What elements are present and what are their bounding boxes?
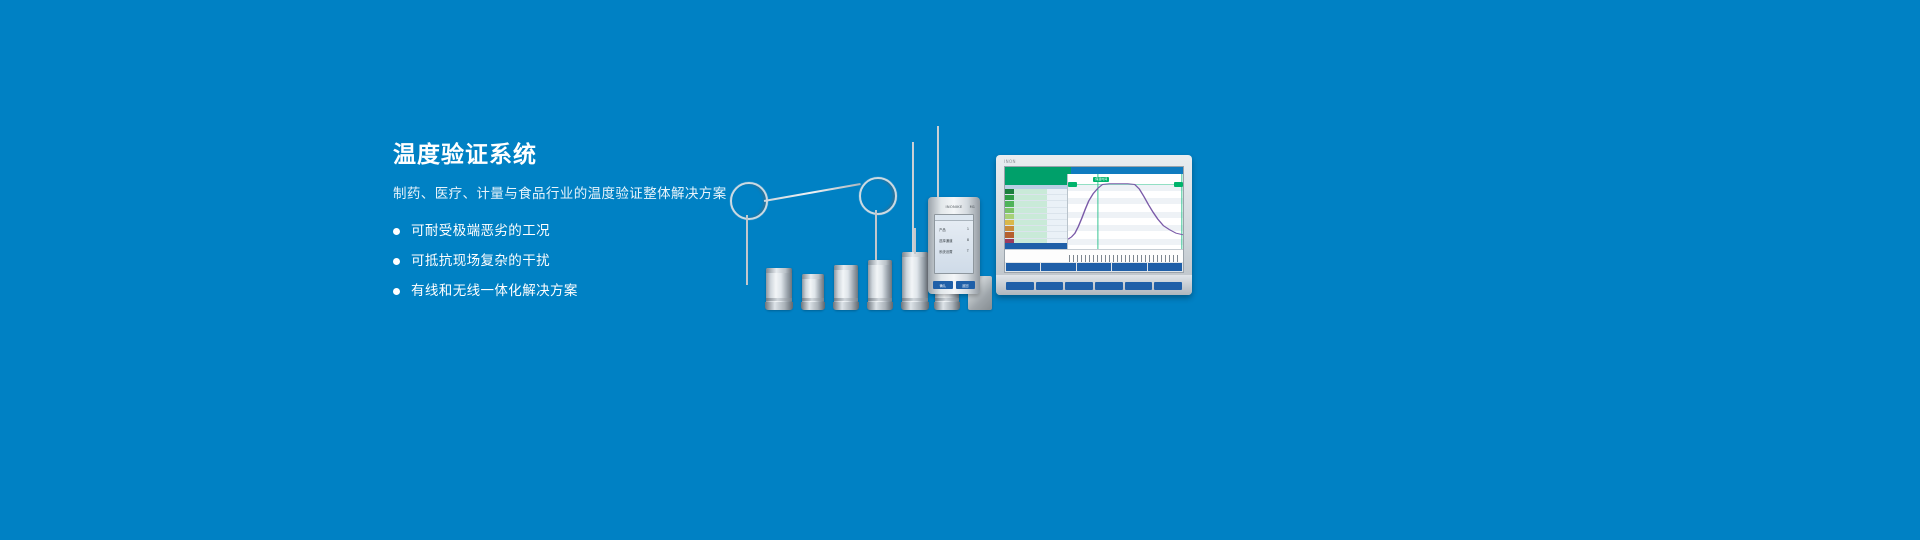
coil-sensor-icon [859, 177, 897, 215]
legend-swatch [1005, 201, 1014, 206]
handheld-row-label: 系统设置 [939, 249, 953, 254]
monitor-base [996, 275, 1192, 295]
function-key-f6[interactable] [1154, 282, 1182, 290]
temperature-chart: 保温时间 [1068, 174, 1183, 249]
hero-banner: 温度验证系统 制药、医疗、计量与食品行业的温度验证整体解决方案 可耐受极端恶劣的… [0, 0, 1920, 540]
monitor-screen: 保温时间 [1004, 166, 1184, 273]
handheld-screen-row: 选择通道 8 [935, 238, 973, 243]
logger-cap-icon [834, 265, 858, 270]
handheld-row-value: 8 [967, 238, 969, 243]
feature-label: 可耐受极端恶劣的工况 [411, 222, 550, 241]
data-logger-unit [902, 252, 928, 310]
function-key-f1[interactable] [1006, 282, 1034, 290]
monitor-tab-bar [1005, 167, 1183, 174]
logger-band-icon [834, 298, 858, 301]
data-logger-unit [834, 265, 858, 310]
monitor-function-keys [1006, 282, 1182, 290]
marker-right-handle[interactable] [1174, 182, 1183, 187]
logger-base-icon [934, 302, 960, 310]
coil-stem-icon [746, 215, 748, 285]
logger-band-icon [868, 298, 892, 301]
handheld-button-bar: 确认 返回 [933, 281, 975, 289]
legend-swatch [1005, 208, 1014, 213]
chart-x-axis [1005, 249, 1183, 262]
logger-cap-icon [868, 260, 892, 265]
legend-swatch [1005, 232, 1014, 237]
logger-band-icon [766, 298, 792, 301]
chart-svg [1068, 174, 1183, 249]
handheld-row-label: 选择通道 [939, 238, 953, 243]
handheld-back-button[interactable]: 返回 [956, 281, 976, 289]
channel-table-rows [1005, 189, 1067, 243]
logger-base-icon [765, 302, 793, 310]
handheld-screen: 产品 1 选择通道 8 系统设置 T [934, 214, 974, 274]
function-key-f5[interactable] [1125, 282, 1153, 290]
tab-settings[interactable] [1071, 167, 1127, 174]
handheld-model-label: M1 [970, 205, 975, 209]
handheld-reader[interactable]: INONIKE M1 产品 1 选择通道 8 系统设置 T 确认 返回 [928, 197, 980, 294]
marker-left-handle[interactable] [1068, 182, 1077, 187]
stop-acquisition-button[interactable] [1041, 263, 1075, 271]
tab-acquiring[interactable] [1005, 167, 1071, 174]
data-logger-unit [802, 274, 824, 310]
settings-button[interactable] [1112, 263, 1146, 271]
handheld-confirm-button[interactable]: 确认 [933, 281, 953, 289]
monitor-action-bar [1005, 262, 1183, 272]
bullet-dot-icon [393, 288, 400, 295]
logger-base-icon [867, 302, 893, 310]
channel-table [1005, 174, 1068, 249]
legend-swatch [1005, 214, 1014, 219]
logger-stem-icon [914, 228, 916, 254]
logger-base-icon [801, 302, 825, 310]
feature-label: 有线和无线一体化解决方案 [411, 282, 578, 301]
function-key-f4[interactable] [1095, 282, 1123, 290]
handheld-screen-header [935, 215, 973, 221]
monitor-brand-label: INON [1004, 159, 1016, 164]
data-logger-unit [868, 260, 892, 310]
start-acquisition-button[interactable] [1006, 263, 1040, 271]
function-key-f3[interactable] [1065, 282, 1093, 290]
monitor-screen-body: 保温时间 [1005, 174, 1183, 249]
marker-start-label: 保温时间 [1093, 177, 1109, 182]
handheld-row-value: 1 [967, 227, 969, 232]
exit-button[interactable] [1148, 263, 1182, 271]
monitor-workstation: INON [996, 155, 1192, 295]
legend-swatch [1005, 226, 1014, 231]
coil-sensor-icon [730, 182, 768, 220]
coil-wire-icon [764, 183, 861, 202]
data-logger-unit [766, 268, 792, 310]
legend-swatch [1005, 189, 1014, 194]
legend-swatch [1005, 220, 1014, 225]
logger-base-icon [901, 302, 929, 310]
handheld-row-label: 产品 [939, 227, 946, 232]
handheld-screen-row: 产品 1 [935, 227, 973, 232]
bullet-dot-icon [393, 228, 400, 235]
logger-base-icon [833, 302, 859, 310]
logger-cap-icon [766, 268, 792, 273]
logger-band-icon [802, 298, 824, 301]
feature-label: 可抵抗现场复杂的干扰 [411, 252, 550, 271]
logger-cap-icon [802, 274, 824, 279]
handheld-screen-row: 系统设置 T [935, 249, 973, 254]
tab-report[interactable] [1127, 167, 1183, 174]
function-key-f2[interactable] [1036, 282, 1064, 290]
logger-band-icon [902, 298, 928, 301]
logger-band-icon [935, 298, 959, 301]
bullet-dot-icon [393, 258, 400, 265]
handheld-row-value: T [967, 249, 969, 254]
legend-swatch [1005, 195, 1014, 200]
report-button[interactable] [1077, 263, 1111, 271]
